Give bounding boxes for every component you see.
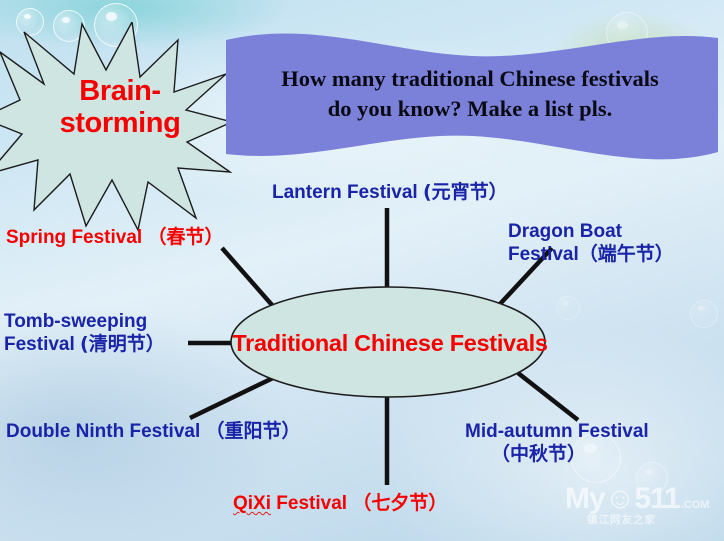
label-tomb-sweeping-festival: Tomb-sweeping Festival (清明节） bbox=[4, 311, 165, 357]
spoke-double-ninth bbox=[190, 378, 273, 418]
label-lantern-festival-en: Lantern Festival bbox=[272, 182, 418, 203]
label-double-ninth-festival-cn: （重阳节） bbox=[206, 420, 301, 442]
label-qixi-festival-cn: （七夕节） bbox=[352, 492, 447, 514]
label-qixi-festival-en-rest: Festival bbox=[271, 493, 347, 514]
label-lantern-festival: Lantern Festival (元宵节） bbox=[272, 181, 508, 204]
label-spring-festival-cn: （春节） bbox=[147, 226, 223, 248]
label-double-ninth-festival: Double Ninth Festival （重阳节） bbox=[6, 420, 301, 443]
label-dragon-boat-festival-en2: Festival bbox=[508, 244, 579, 265]
label-tomb-sweeping-festival-cn: (清明节） bbox=[80, 333, 165, 355]
label-mid-autumn-festival: Mid-autumn Festival （中秋节） bbox=[465, 421, 649, 467]
center-ellipse-label: Traditional Chinese Festivals bbox=[200, 330, 580, 357]
label-spring-festival-en: Spring Festival bbox=[6, 227, 142, 248]
spoke-mid-autumn bbox=[518, 373, 578, 420]
slide-canvas: Brain- storming How many traditional Chi… bbox=[0, 0, 724, 541]
label-dragon-boat-festival-cn: （端午节） bbox=[579, 243, 674, 265]
label-dragon-boat-festival: Dragon Boat Festival（端午节） bbox=[508, 221, 674, 267]
label-lantern-festival-cn: (元宵节） bbox=[423, 181, 508, 203]
label-mid-autumn-festival-cn: （中秋节） bbox=[491, 443, 586, 465]
label-tomb-sweeping-festival-en1: Tomb-sweeping bbox=[4, 311, 147, 332]
spoke-spring bbox=[222, 248, 272, 305]
label-mid-autumn-festival-en: Mid-autumn Festival bbox=[465, 421, 649, 442]
label-qixi-festival-en-misspelled: QiXi bbox=[233, 493, 271, 514]
label-dragon-boat-festival-en1: Dragon Boat bbox=[508, 221, 622, 242]
label-double-ninth-festival-en: Double Ninth Festival bbox=[6, 421, 200, 442]
label-spring-festival: Spring Festival （春节） bbox=[6, 226, 224, 249]
label-tomb-sweeping-festival-en2: Festival bbox=[4, 334, 75, 355]
label-qixi-festival: QiXi Festival （七夕节） bbox=[233, 492, 447, 515]
